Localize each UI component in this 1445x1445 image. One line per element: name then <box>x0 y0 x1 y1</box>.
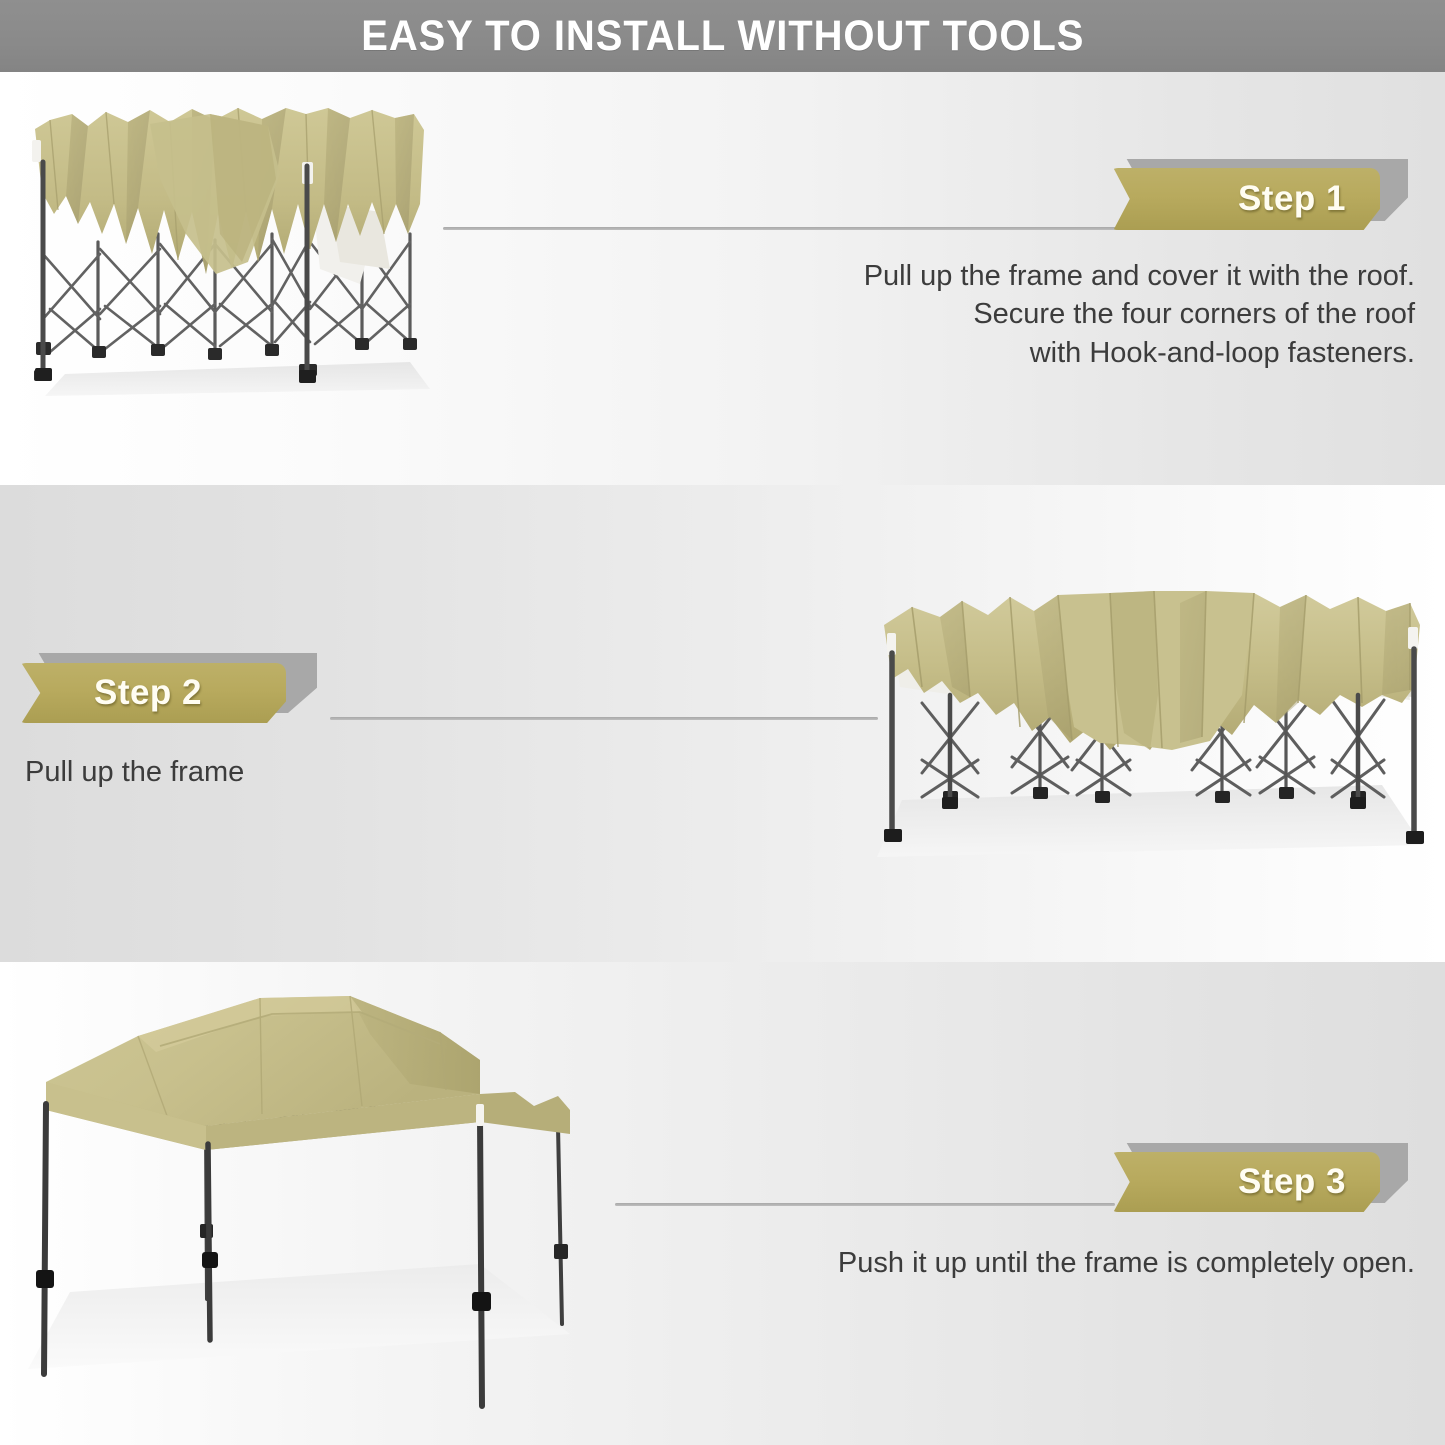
canopy-fully-open-image <box>10 974 590 1414</box>
infographic-page: EASY TO INSTALL WITHOUT TOOLS <box>0 0 1445 1445</box>
step-3-badge: Step 3 <box>1108 1152 1398 1212</box>
step-2-text: Pull up the frame <box>25 753 585 791</box>
page-title: EASY TO INSTALL WITHOUT TOOLS <box>361 12 1084 61</box>
step-2-badge-label: Step 2 <box>16 663 306 723</box>
step-1-badge-label: Step 1 <box>1108 168 1398 230</box>
step-2-section: Step 2 Pull up the frame <box>0 485 1445 962</box>
canopy-collapsed-with-roof-draped-image <box>10 84 450 414</box>
step-2-badge: Step 2 <box>16 663 306 723</box>
step-1-section: Step 1 Pull up the frame and cover it wi… <box>0 72 1445 485</box>
step-1-text: Pull up the frame and cover it with the … <box>660 257 1415 372</box>
step-3-connector-line <box>615 1203 1115 1206</box>
header-banner: EASY TO INSTALL WITHOUT TOOLS <box>0 0 1445 72</box>
step-1-badge: Step 1 <box>1108 168 1398 230</box>
step-3-text: Push it up until the frame is completely… <box>640 1244 1415 1282</box>
step-3-section: Step 3 Push it up until the frame is com… <box>0 962 1445 1445</box>
step-1-connector-line <box>443 227 1133 230</box>
canopy-half-extended-frame-image <box>862 545 1442 885</box>
step-2-connector-line <box>330 717 878 720</box>
step-3-badge-label: Step 3 <box>1108 1152 1398 1212</box>
